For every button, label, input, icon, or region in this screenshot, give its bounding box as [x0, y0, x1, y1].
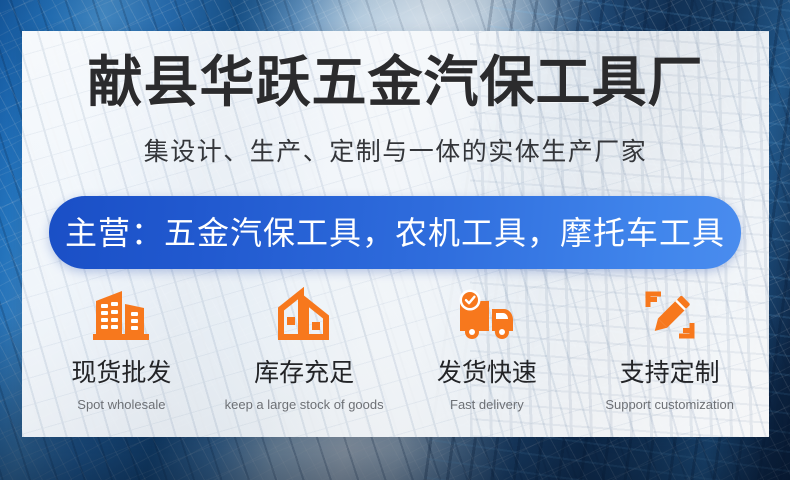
content-panel: 献县华跃五金汽保工具厂 集设计、生产、定制与一体的实体生产厂家 主营：五金汽保工…	[22, 31, 769, 437]
feature-support-customization: 支持定制 Support customization	[578, 286, 761, 413]
main-business-text: 主营：五金汽保工具，农机工具，摩托车工具	[65, 213, 725, 253]
delivery-truck-check-icon	[456, 286, 518, 344]
main-business-pill: 主营：五金汽保工具，农机工具，摩托车工具	[49, 196, 741, 269]
feature-large-stock: 库存充足 keep a large stock of goods	[213, 286, 396, 413]
feature-label-en: keep a large stock of goods	[225, 397, 384, 413]
feature-spot-wholesale: 现货批发 Spot wholesale	[30, 286, 213, 413]
company-promo-banner: 献县华跃五金汽保工具厂 集设计、生产、定制与一体的实体生产厂家 主营：五金汽保工…	[0, 0, 790, 480]
feature-label-en: Fast delivery	[450, 397, 524, 413]
feature-label-cn: 现货批发	[71, 358, 171, 388]
feature-label-en: Support customization	[605, 397, 734, 413]
feature-label-cn: 库存充足	[254, 358, 354, 388]
warehouse-stock-icon	[273, 286, 335, 344]
feature-label-en: Spot wholesale	[77, 397, 165, 413]
feature-label-cn: 支持定制	[620, 358, 720, 388]
feature-fast-delivery: 发货快速 Fast delivery	[396, 286, 579, 413]
feature-row: 现货批发 Spot wholesale	[30, 286, 761, 413]
company-subtitle: 集设计、生产、定制与一体的实体生产厂家	[22, 133, 769, 171]
office-buildings-icon	[90, 286, 152, 344]
company-title: 献县华跃五金汽保工具厂	[22, 46, 769, 118]
feature-label-cn: 发货快速	[437, 358, 537, 388]
pencil-customization-icon	[639, 286, 701, 344]
